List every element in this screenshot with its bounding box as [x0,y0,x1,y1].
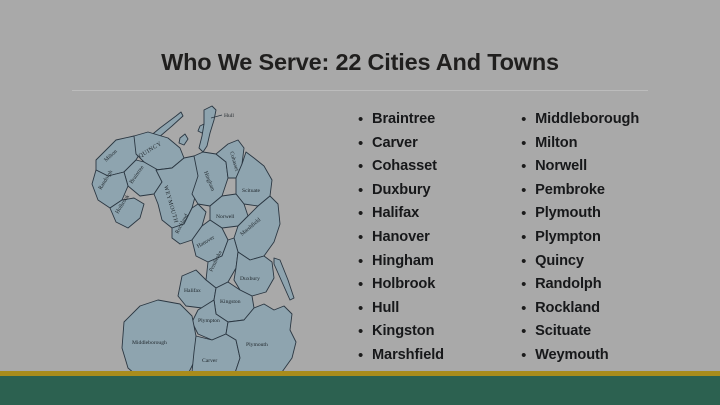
town-label: Scituate [535,320,591,344]
map-town-duxbury [234,252,274,296]
map-label-plymouth: Plymouth [246,342,268,348]
bullet-icon: • [521,179,535,203]
list-item[interactable]: • Scituate [521,320,688,344]
list-item[interactable]: • Plymouth [521,202,688,226]
list-item[interactable]: • Carver [358,132,499,156]
bullet-icon: • [521,132,535,156]
town-label: Rockland [535,297,600,321]
map-island-peddocks [179,134,188,145]
service-area-map: Hull Milton QUINCY Braintree Randolph Ho… [88,100,338,385]
list-item[interactable]: • Milton [521,132,688,156]
title-divider [72,90,648,91]
list-item[interactable]: • Pembroke [521,179,688,203]
town-label: Randolph [535,273,601,297]
town-label: Duxbury [372,179,431,203]
map-label-hull: Hull [224,113,234,119]
list-item[interactable]: • Hanover [358,226,499,250]
list-item[interactable]: • Weymouth [521,344,688,368]
bullet-icon: • [521,273,535,297]
list-item[interactable]: • Rockland [521,297,688,321]
bullet-icon: • [358,179,372,203]
bullet-icon: • [521,108,535,132]
bullet-icon: • [521,202,535,226]
bullet-icon: • [521,344,535,368]
list-item[interactable]: • Halifax [358,202,499,226]
list-item[interactable]: • Hull [358,297,499,321]
town-label: Cohasset [372,155,437,179]
map-label-scituate: Scituate [242,188,261,194]
town-label: Carver [372,132,418,156]
town-label: Holbrook [372,273,435,297]
list-item[interactable]: • Plympton [521,226,688,250]
towns-column-1: • Braintree • Carver • Cohasset • Duxbur… [358,108,499,370]
town-label: Marshfield [372,344,444,368]
bullet-icon: • [358,297,372,321]
town-label: Hull [372,297,399,321]
bullet-icon: • [358,273,372,297]
town-label: Hanover [372,226,430,250]
bullet-icon: • [358,226,372,250]
list-item[interactable]: • Norwell [521,155,688,179]
town-label: Middleborough [535,108,639,132]
map-label-duxbury: Duxbury [240,276,260,282]
bullet-icon: • [358,320,372,344]
town-label: Pembroke [535,179,605,203]
map-label-middleborough: Middleborough [132,340,167,346]
list-item[interactable]: • Hingham [358,250,499,274]
bullet-icon: • [521,250,535,274]
map-label-halifax: Halifax [184,287,201,294]
list-item[interactable]: • Quincy [521,250,688,274]
town-label: Hingham [372,250,434,274]
list-item[interactable]: • Randolph [521,273,688,297]
list-item[interactable]: • Braintree [358,108,499,132]
bullet-icon: • [358,108,372,132]
map-label-carver: Carver [202,358,217,364]
bullet-icon: • [521,226,535,250]
town-label: Quincy [535,250,584,274]
list-item[interactable]: • Marshfield [358,344,499,368]
list-item[interactable]: • Duxbury [358,179,499,203]
towns-list: • Braintree • Carver • Cohasset • Duxbur… [358,108,688,370]
map-label-kingston: Kingston [220,299,241,305]
town-label: Halifax [372,202,419,226]
page-title: Who We Serve: 22 Cities And Towns [0,50,720,76]
town-label: Kingston [372,320,434,344]
list-item[interactable]: • Kingston [358,320,499,344]
town-label: Braintree [372,108,435,132]
map-label-plympton: Plympton [198,318,220,324]
footer-green-band [0,376,720,405]
bullet-icon: • [521,320,535,344]
map-label-norwell: Norwell [216,214,235,220]
town-label: Plymouth [535,202,601,226]
bullet-icon: • [358,155,372,179]
bullet-icon: • [358,202,372,226]
towns-column-2: • Middleborough • Milton • Norwell • Pem… [521,108,688,370]
town-label: Milton [535,132,577,156]
bullet-icon: • [521,297,535,321]
town-label: Weymouth [535,344,609,368]
list-item[interactable]: • Holbrook [358,273,499,297]
bullet-icon: • [358,250,372,274]
bullet-icon: • [521,155,535,179]
town-label: Norwell [535,155,587,179]
list-item[interactable]: • Middleborough [521,108,688,132]
bullet-icon: • [358,132,372,156]
bullet-icon: • [358,344,372,368]
list-item[interactable]: • Cohasset [358,155,499,179]
town-label: Plympton [535,226,601,250]
slide-canvas: Who We Serve: 22 Cities And Towns Hull M… [0,0,720,405]
map-town-duxbury-beach [274,258,294,300]
